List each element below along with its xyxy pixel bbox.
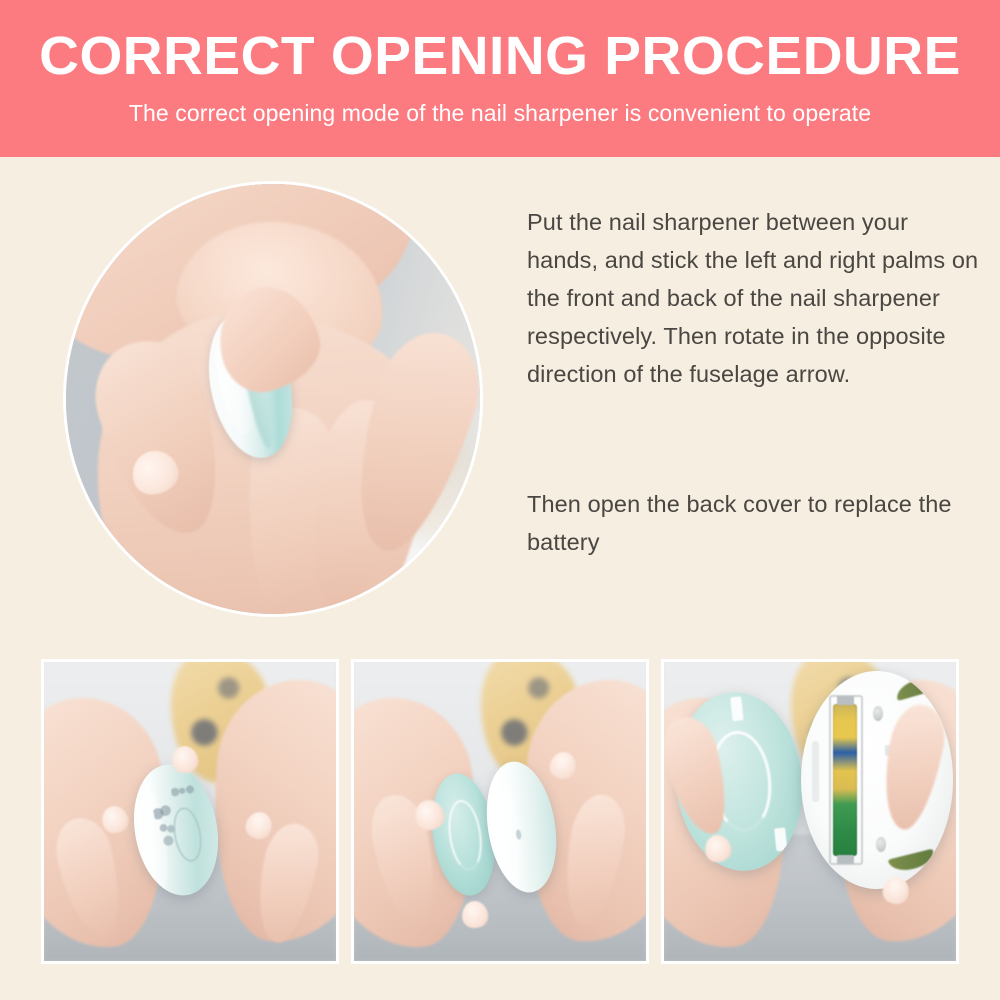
body-indicator-dot xyxy=(516,829,522,839)
instruction-step-replace-battery: Then open the back cover to replace the … xyxy=(527,485,979,561)
instruction-text-block: Put the nail sharpener between your hand… xyxy=(527,203,979,561)
device-logo xyxy=(169,778,197,803)
step-photo-row xyxy=(41,659,959,964)
page-subtitle: The correct opening mode of the nail sha… xyxy=(0,98,1000,128)
step-photo-3-open-battery-compartment xyxy=(661,659,959,964)
cover-inner-notch xyxy=(444,798,485,873)
hero-circle-photo xyxy=(63,181,483,617)
header-band: CORRECT OPENING PROCEDURE The correct op… xyxy=(0,0,1000,157)
step-photo-2-separating-halves xyxy=(351,659,649,964)
cover-latch-tab xyxy=(774,827,788,851)
cover-latch-tab xyxy=(730,697,744,721)
screw xyxy=(873,706,884,721)
instruction-step-rotate: Put the nail sharpener between your hand… xyxy=(527,203,979,393)
step-photo-1-closed-device xyxy=(41,659,339,964)
page-title: CORRECT OPENING PROCEDURE xyxy=(0,25,1000,87)
infographic-page: CORRECT OPENING PROCEDURE The correct op… xyxy=(0,0,1000,1000)
body-slot xyxy=(812,741,820,802)
battery xyxy=(833,704,857,857)
device-power-button xyxy=(169,804,205,863)
screw xyxy=(876,837,887,852)
hero-image-container xyxy=(63,181,483,617)
